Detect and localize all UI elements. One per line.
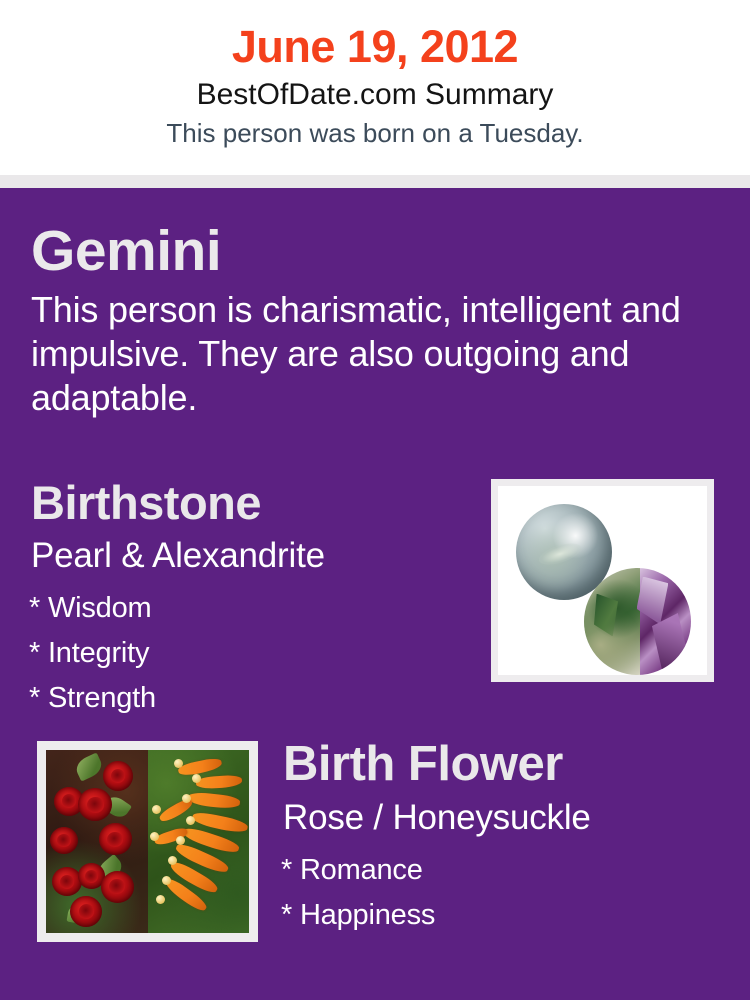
list-item: * Romance xyxy=(281,848,435,893)
birthstone-image-frame xyxy=(491,479,714,682)
alexandrite-faceted-half xyxy=(640,568,691,675)
alexandrite-rough-half xyxy=(584,568,640,675)
birthstone-name: Pearl & Alexandrite xyxy=(31,535,325,577)
zodiac-sign-heading: Gemini xyxy=(31,220,221,282)
birth-flower-image-frame xyxy=(37,741,258,942)
zodiac-description: This person is charismatic, intelligent … xyxy=(31,288,701,420)
birth-flower-heading: Birth Flower xyxy=(283,736,563,792)
page-header: June 19, 2012 BestOfDate.com Summary Thi… xyxy=(0,0,750,175)
site-name: BestOfDate.com Summary xyxy=(0,75,750,115)
birth-day-statement: This person was born on a Tuesday. xyxy=(0,116,750,150)
birth-flower-name: Rose / Honeysuckle xyxy=(283,797,591,839)
birthstone-heading: Birthstone xyxy=(31,476,261,530)
page-root: { "header": { "date": "June 19, 2012", "… xyxy=(0,0,750,1000)
list-item: * Integrity xyxy=(29,631,156,676)
list-item: * Wisdom xyxy=(29,586,156,631)
birth-flower-image xyxy=(46,750,249,933)
birthstone-traits-list: * Wisdom * Integrity * Strength xyxy=(29,586,156,721)
birthstone-image xyxy=(498,486,707,675)
pearl-highlight xyxy=(537,539,584,569)
summary-panel: Gemini This person is charismatic, intel… xyxy=(0,188,750,1000)
page-title: June 19, 2012 xyxy=(0,21,750,73)
birth-flower-traits-list: * Romance * Happiness xyxy=(281,848,435,938)
list-item: * Happiness xyxy=(281,893,435,938)
honeysuckle-photo-half xyxy=(148,750,250,933)
header-divider xyxy=(0,175,750,188)
alexandrite-icon xyxy=(584,568,691,675)
list-item: * Strength xyxy=(29,676,156,721)
roses-photo-half xyxy=(46,750,148,933)
